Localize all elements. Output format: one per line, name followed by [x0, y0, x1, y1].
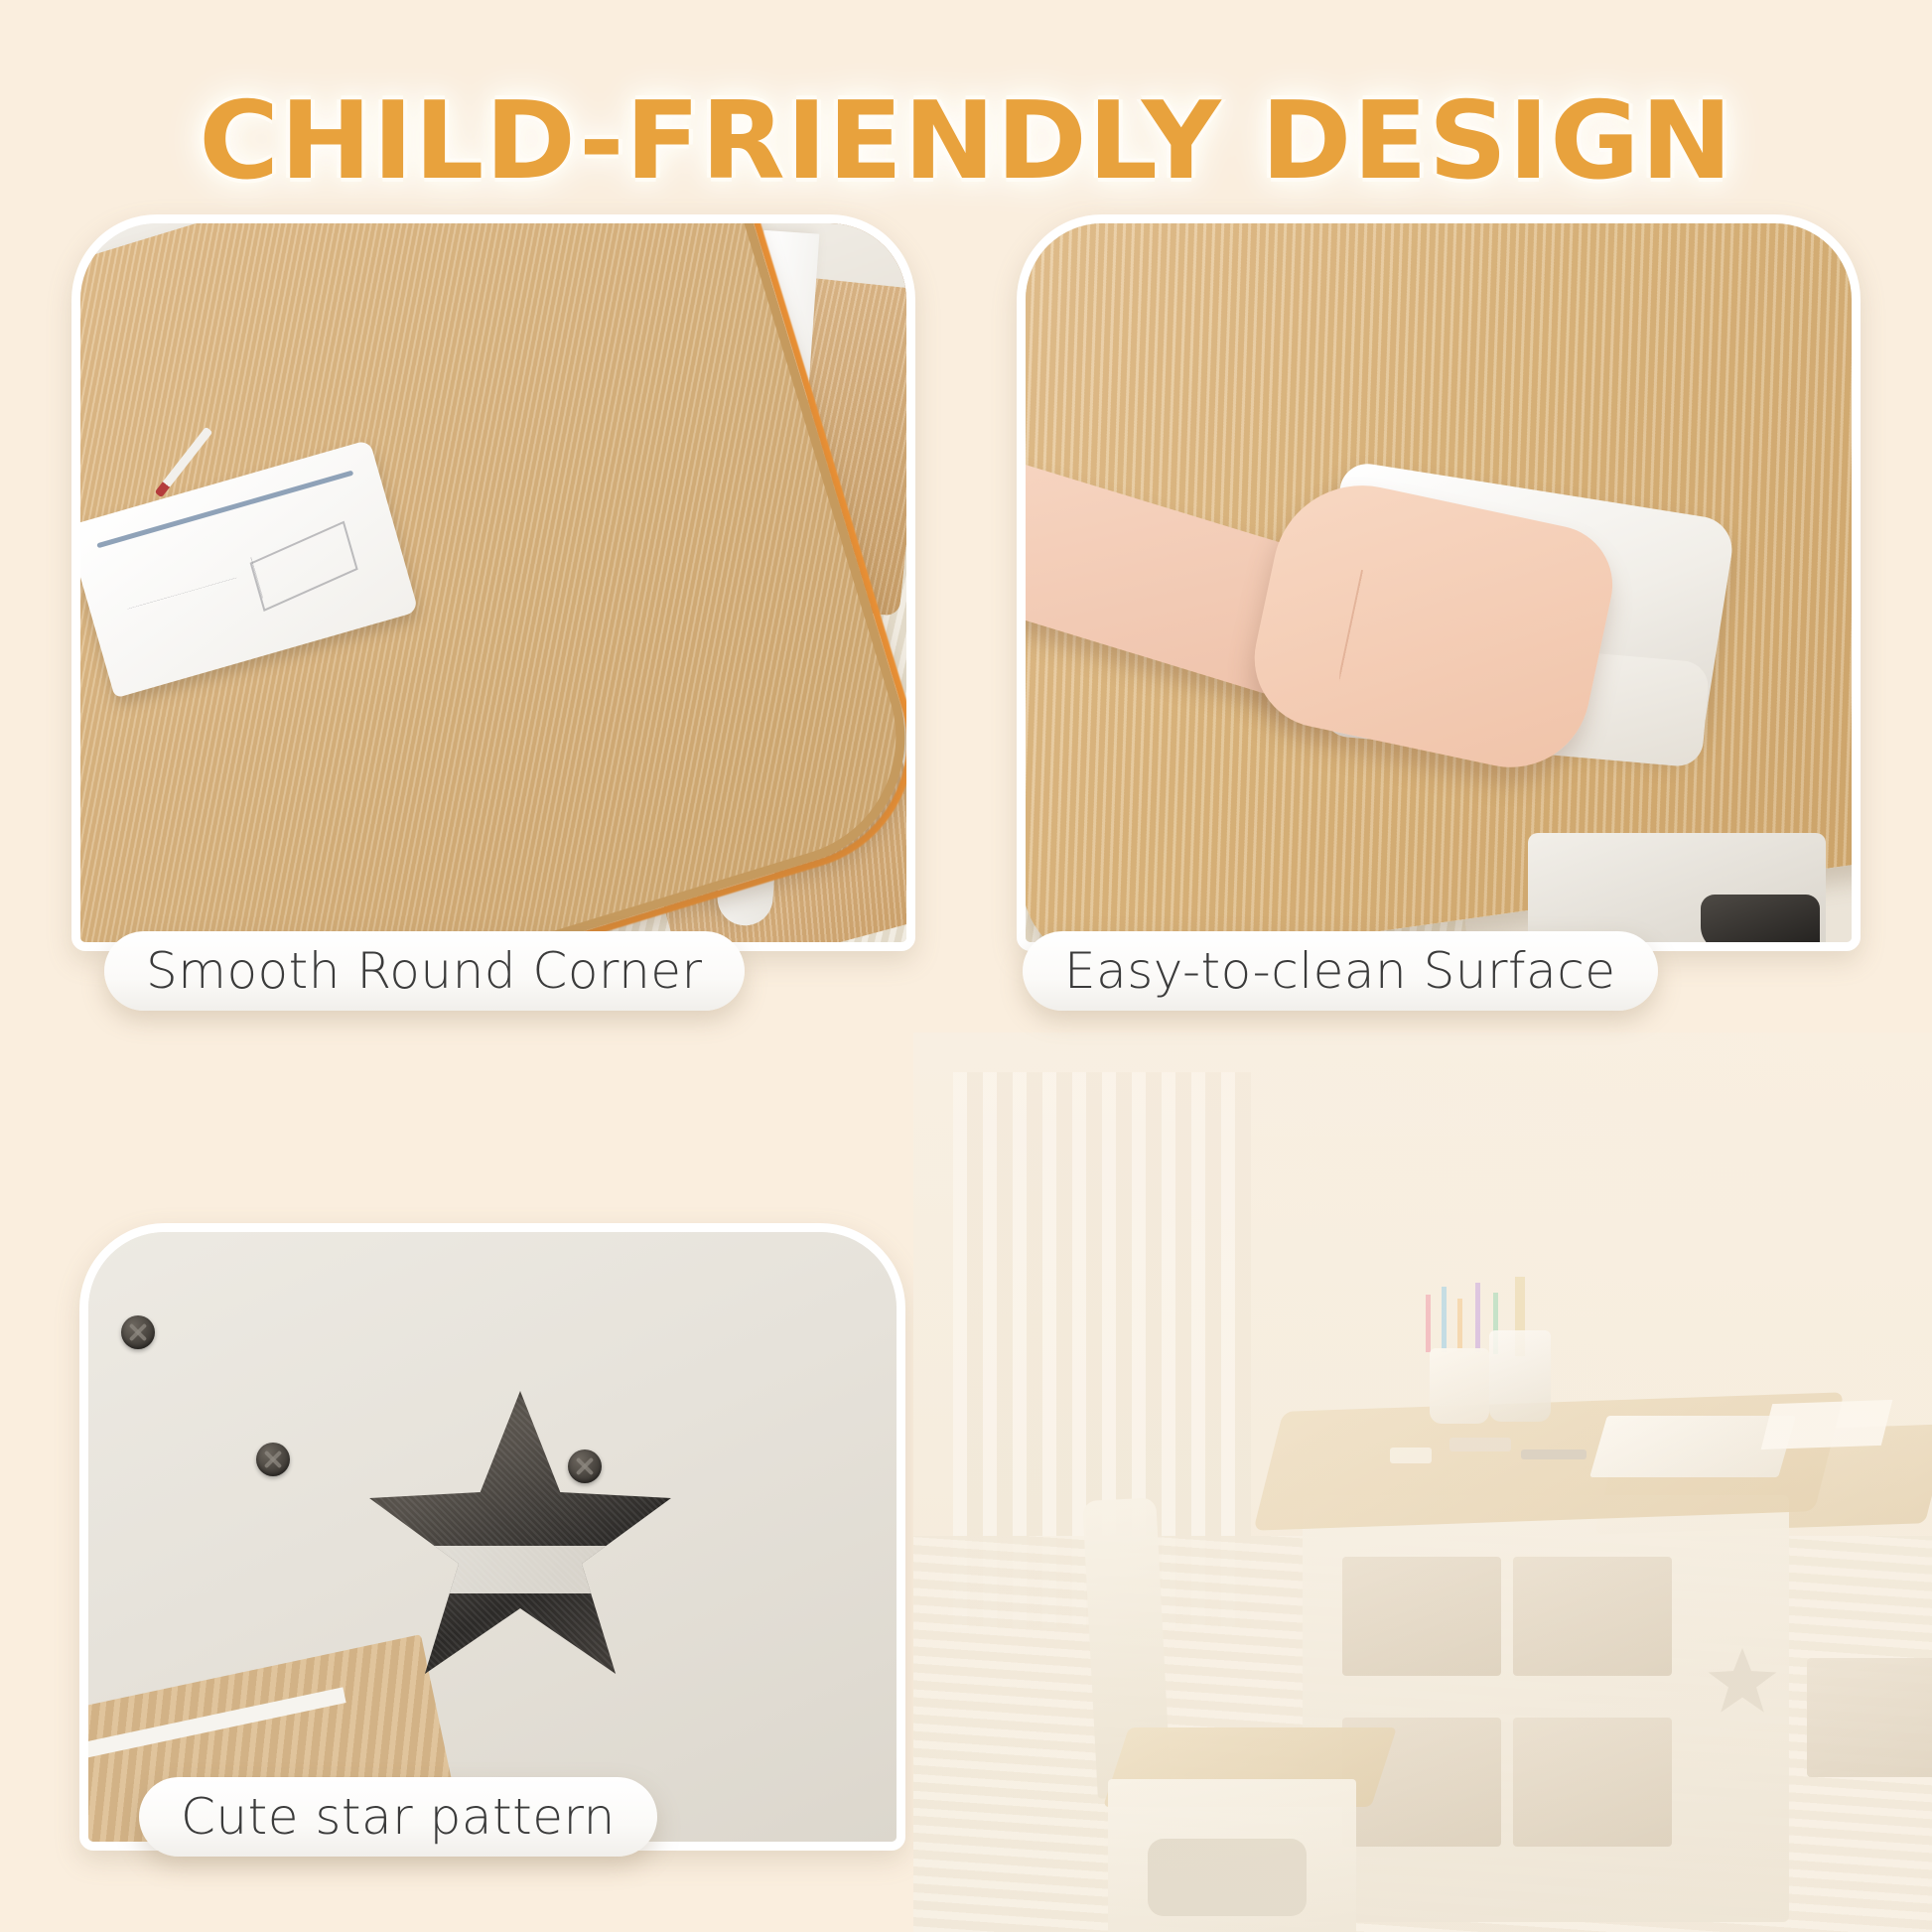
screw-cap-icon — [121, 1315, 155, 1349]
feature-image-easy-to-clean-surface — [1017, 214, 1861, 951]
infographic-canvas: CHILD-FRIENDLY DESIGN — [0, 0, 1932, 1932]
playroom-overview-photo — [913, 1033, 1932, 1932]
screw-cap-icon — [568, 1449, 602, 1483]
caption-easy-to-clean-surface: Easy-to-clean Surface — [1023, 931, 1658, 1011]
photo-fade-overlay — [913, 1033, 1932, 1932]
page-title: CHILD-FRIENDLY DESIGN — [0, 79, 1932, 204]
feature-image-cute-star-pattern — [79, 1223, 905, 1851]
caption-smooth-round-corner: Smooth Round Corner — [104, 931, 745, 1011]
screw-cap-icon — [256, 1443, 290, 1476]
caption-cute-star-pattern: Cute star pattern — [139, 1777, 657, 1857]
feature-image-smooth-round-corner — [71, 214, 915, 951]
